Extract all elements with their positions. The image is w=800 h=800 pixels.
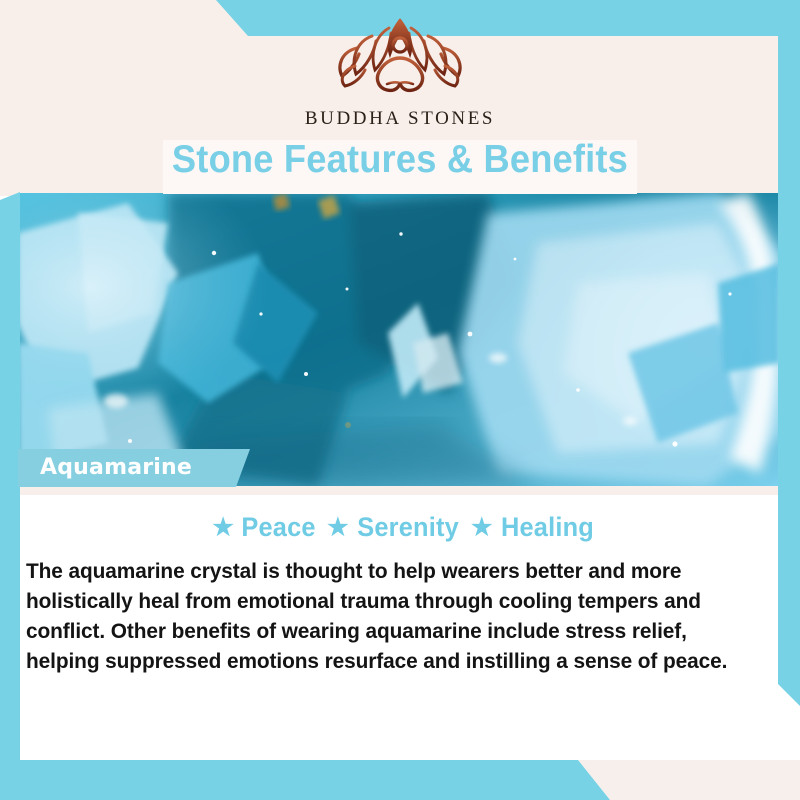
cream-divider xyxy=(18,486,780,495)
star-icon: ★ xyxy=(327,513,349,542)
keyword-peace: Peace xyxy=(241,512,315,543)
star-icon: ★ xyxy=(212,513,234,542)
keyword-healing: Healing xyxy=(501,512,594,543)
keyword-serenity: Serenity xyxy=(357,512,459,543)
page-title: Stone Features & Benefits xyxy=(28,138,772,182)
brand-name: BUDDHA STONES xyxy=(0,108,800,130)
frame-accent-left xyxy=(0,192,20,800)
stone-photo xyxy=(18,193,780,486)
star-icon: ★ xyxy=(471,513,493,542)
stone-benefits-poster: BUDDHA STONES Stone Features & Benefits xyxy=(0,0,800,800)
aquamarine-crystal-image xyxy=(18,193,780,486)
stone-name-label: Aquamarine xyxy=(40,455,192,480)
description-text: The aquamarine crystal is thought to hel… xyxy=(26,556,740,676)
keyword-list: ★Peace★Serenity★Healing xyxy=(0,512,800,543)
brand-logo: BUDDHA STONES xyxy=(0,14,800,130)
lotus-meditation-figure-icon xyxy=(325,14,475,106)
